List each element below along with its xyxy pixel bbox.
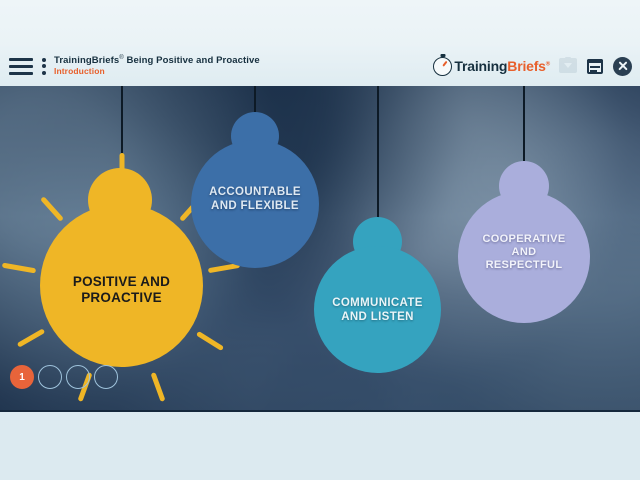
- nav-dot-3[interactable]: [66, 365, 90, 389]
- bulb-globe: [191, 140, 319, 268]
- hamburger-line: [9, 58, 33, 61]
- bulb-globe: [314, 246, 441, 373]
- bulb-cooperative-and-respectful[interactable]: COOPERATIVE AND RESPECTFUL: [458, 161, 590, 351]
- notes-icon[interactable]: [586, 57, 604, 75]
- slide-stage: COOPERATIVE AND RESPECTFUL ACCOUNTABLE A…: [0, 86, 640, 412]
- bulb-globe: [458, 191, 590, 323]
- kebab-menu-icon[interactable]: [41, 58, 47, 75]
- hamburger-line: [9, 65, 33, 68]
- download-icon-arrow: [564, 63, 572, 68]
- bulb-cord: [523, 86, 525, 161]
- trainingbriefs-logo: TrainingBriefs®: [433, 57, 550, 76]
- logo-wordmark: TrainingBriefs®: [454, 58, 550, 74]
- bulb-cord: [377, 86, 379, 218]
- header-actions: TrainingBriefs®: [433, 57, 632, 76]
- kebab-dot: [42, 64, 46, 68]
- bulb-globe: [40, 204, 203, 367]
- notes-icon-line: [590, 66, 600, 68]
- notes-icon-header: [587, 59, 603, 63]
- hamburger-menu-icon[interactable]: [9, 58, 33, 75]
- nav-dot-1[interactable]: 1: [10, 365, 34, 389]
- player-header: TrainingBriefs® Being Positive and Proac…: [0, 46, 640, 86]
- download-icon[interactable]: [559, 57, 577, 75]
- nav-dot-label: 1: [19, 372, 25, 383]
- notes-icon-line: [590, 70, 597, 72]
- course-player: TrainingBriefs® Being Positive and Proac…: [0, 0, 640, 480]
- logo-word-briefs: Briefs: [507, 58, 545, 74]
- bulb-accountable-and-flexible[interactable]: ACCOUNTABLE AND FLEXIBLE: [191, 112, 319, 294]
- logo-registered-mark: ®: [546, 61, 550, 67]
- hamburger-line: [9, 72, 33, 75]
- kebab-dot: [42, 71, 46, 75]
- close-icon[interactable]: [613, 57, 632, 76]
- course-title-block: TrainingBriefs® Being Positive and Proac…: [54, 55, 260, 77]
- slide-navigation: 1: [10, 365, 118, 389]
- course-title-rest: Being Positive and Proactive: [124, 55, 260, 66]
- course-title-brand: TrainingBriefs: [54, 55, 119, 66]
- stopwatch-icon: [433, 57, 452, 76]
- bulb-communicate-and-listen[interactable]: COMMUNICATE AND LISTEN: [314, 217, 441, 402]
- course-section-label: Introduction: [54, 67, 260, 77]
- bulb-cord: [254, 86, 256, 113]
- nav-dot-2[interactable]: [38, 365, 62, 389]
- kebab-dot: [42, 58, 46, 62]
- logo-word-training: Training: [454, 58, 507, 74]
- nav-dot-4[interactable]: [94, 365, 118, 389]
